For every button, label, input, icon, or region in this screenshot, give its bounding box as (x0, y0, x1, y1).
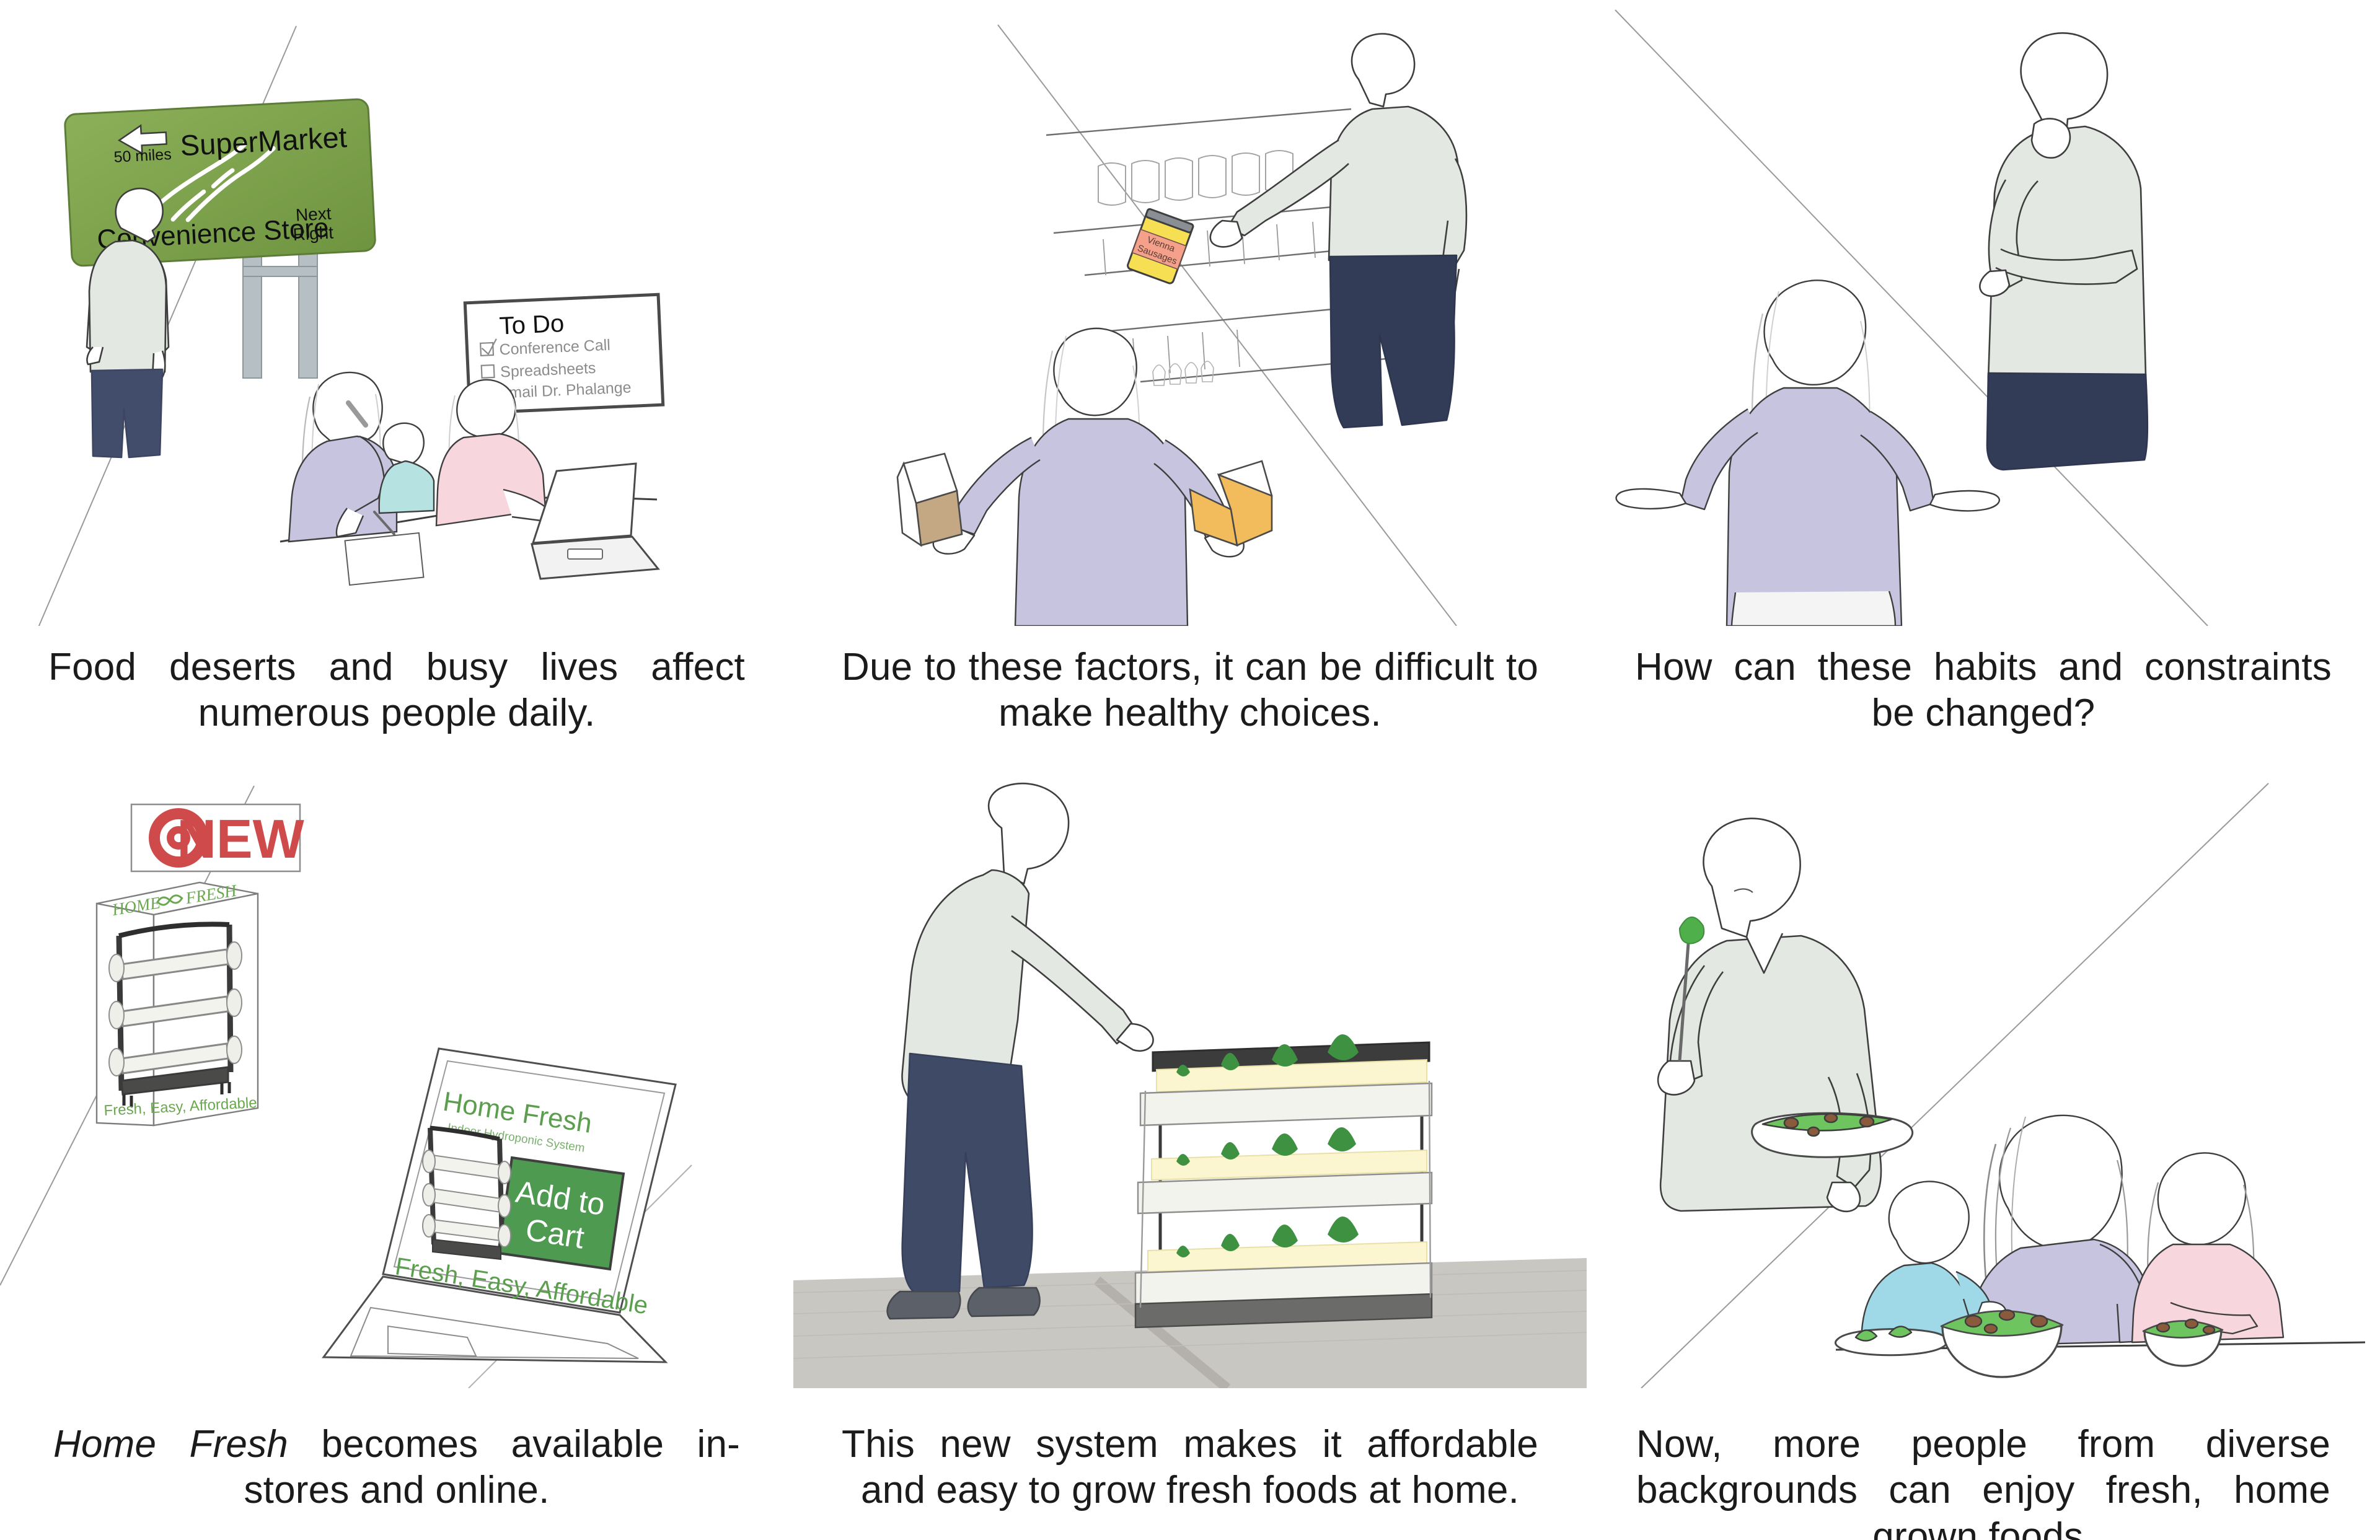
panel-4-caption-brand: Home Fresh (53, 1423, 288, 1466)
retail-product-box: HOME FRESH (97, 881, 258, 1125)
figure-woman-shrugging (1616, 280, 1999, 626)
storyboard-panel-3: How can these habits and constraints be … (1587, 0, 2380, 770)
figure-man-at-shelf (1210, 33, 1466, 428)
hydroponic-unit (1135, 1034, 1432, 1327)
panel-2-caption: Due to these factors, it can be difficul… (793, 645, 1587, 737)
panel-3-illustration (1587, 0, 2380, 626)
add-to-cart-button[interactable]: Add to Cart (498, 1158, 624, 1269)
sign-direction-line1: Next (295, 204, 332, 225)
online-store-laptop: Home Fresh Indoor Hydroponic System Add … (324, 1049, 676, 1362)
figure-man-eating-salad (1658, 819, 1913, 1212)
panel-5-illustration (793, 781, 1587, 1388)
storyboard-panel-2: Vienna Sausages (793, 0, 1587, 770)
sign-direction-line2: Right (293, 223, 334, 244)
panel-6-illustration (1587, 781, 2380, 1388)
figure-man-thinking (1980, 33, 2147, 470)
panel-3-caption: How can these habits and constraints be … (1587, 645, 2380, 737)
storyboard-panel-6: Now, more people from diverse background… (1587, 770, 2380, 1540)
salad-plate (1752, 1113, 1913, 1157)
storyboard-panel-1: 50 miles SuperMarket Convenience Store N… (0, 0, 793, 770)
large-salad-bowl (1941, 1310, 2063, 1377)
panel-5-caption: This new system makes it affordable and … (793, 1422, 1587, 1514)
storyboard-panel-4: NEW HOME FRESH (0, 770, 793, 1540)
panel-4-caption: Home Fresh becomes available in-stores a… (0, 1422, 793, 1514)
new-badge-label: NEW (177, 808, 304, 869)
figure-man-tending-unit (888, 783, 1153, 1319)
todo-title: To Do (499, 310, 565, 340)
sign-distance-label: 50 miles (113, 146, 172, 166)
panel-6-caption: Now, more people from diverse background… (1587, 1422, 2380, 1540)
figure-group-family-eating (1835, 1115, 2283, 1377)
panel-4-caption-rest: becomes available in-stores and online. (244, 1423, 740, 1511)
product-box-tan (897, 454, 962, 545)
new-badge: NEW (131, 804, 304, 871)
storyboard-grid: 50 miles SuperMarket Convenience Store N… (0, 0, 2380, 1540)
small-salad-bowl (2143, 1319, 2223, 1366)
vienna-sausages-can: Vienna Sausages (1127, 208, 1194, 284)
storyboard-panel-5: This new system makes it affordable and … (793, 770, 1587, 1540)
panel-1-illustration: 50 miles SuperMarket Convenience Store N… (0, 0, 793, 626)
panel-2-illustration: Vienna Sausages (793, 0, 1587, 626)
panel-4-illustration: NEW HOME FRESH (0, 781, 793, 1388)
road-sign: 50 miles SuperMarket Convenience Store N… (64, 99, 376, 266)
panel-1-caption: Food deserts and busy lives affect numer… (0, 645, 793, 737)
